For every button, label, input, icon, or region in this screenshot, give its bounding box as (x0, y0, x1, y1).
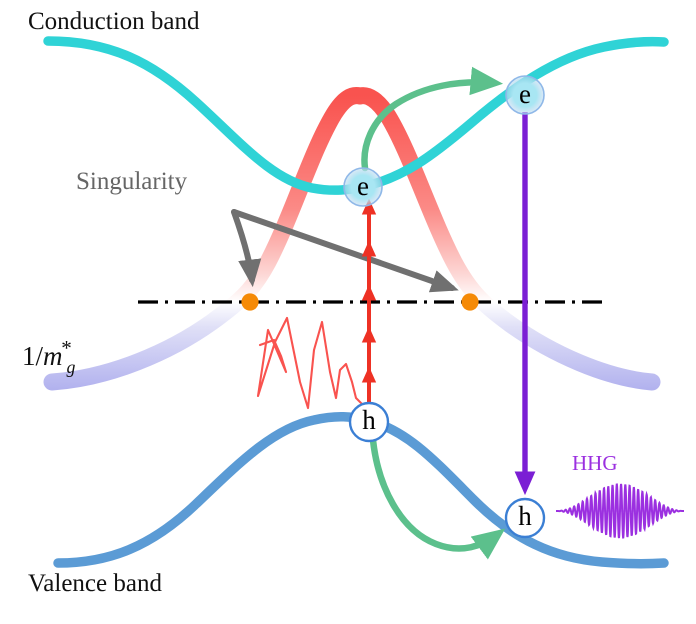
figure-canvas (0, 0, 696, 624)
inverse-mass-subscript: g (66, 357, 75, 377)
singularity-marker-right (461, 293, 478, 310)
electron-at-band-minimum (344, 168, 382, 206)
inverse-mass-prefix: 1/ (22, 341, 43, 371)
valence-band-label: Valence band (28, 570, 162, 598)
singularity-marker-left (241, 293, 258, 310)
conduction-band-label: Conduction band (28, 8, 200, 36)
band-structure-hhg-figure: e e h h Conduction band Valence band Sin… (0, 0, 696, 624)
inverse-mass-symbol: m (43, 341, 63, 371)
driving-laser-pulse (258, 318, 368, 410)
hhg-burst-waveform (556, 484, 684, 538)
inverse-effective-mass-curve (52, 96, 652, 382)
singularity-label: Singularity (76, 168, 187, 196)
hole-at-band-maximum (350, 403, 388, 441)
hhg-label: HHG (572, 451, 618, 476)
inverse-effective-mass-label: 1/m*g (22, 336, 75, 378)
hole-recombining (506, 499, 544, 537)
electron-drifted (506, 76, 544, 114)
